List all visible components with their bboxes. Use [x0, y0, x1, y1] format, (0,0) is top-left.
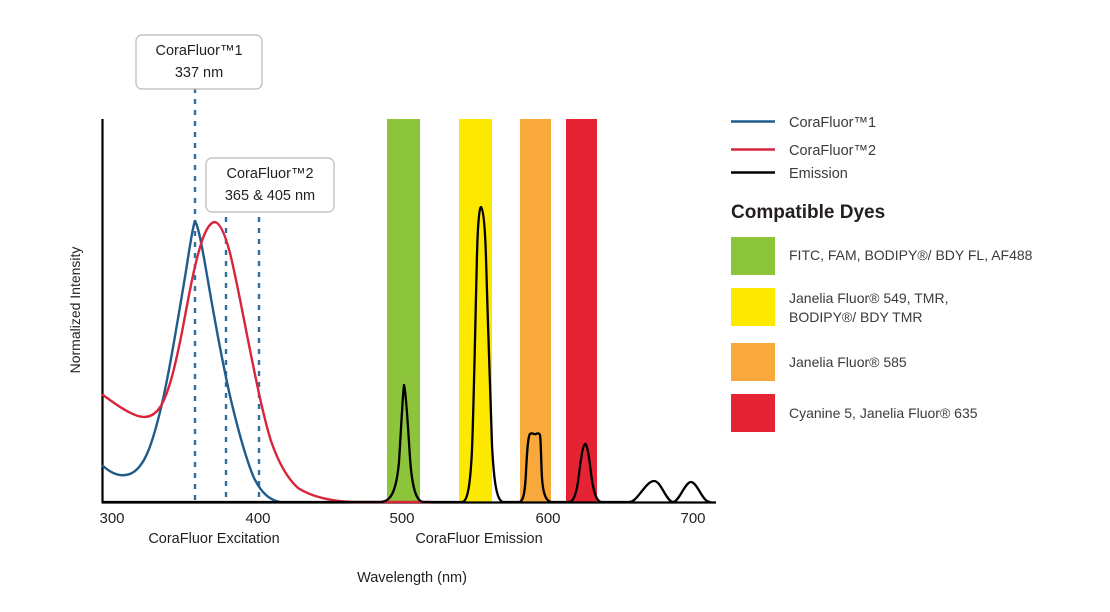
spectra-chart: 300 400 500 600 700 CoraFluor Excitation…: [0, 0, 1110, 612]
figure-root: 300 400 500 600 700 CoraFluor Excitation…: [0, 0, 1110, 612]
legend-dye-label-yellow-1: Janelia Fluor® 549, TMR,: [789, 290, 948, 306]
x-tick-600: 600: [535, 510, 560, 527]
dye-band-orange: [520, 119, 551, 502]
compatible-dyes-heading: Compatible Dyes: [731, 202, 885, 223]
curve-corafluor-2: [103, 222, 430, 502]
legend-label-corafluor-1: CoraFluor™1: [789, 115, 876, 131]
x-tick-500: 500: [389, 510, 414, 527]
region-label-emission: CoraFluor Emission: [415, 531, 542, 547]
legend-dye-swatch-orange: [731, 343, 775, 381]
excitation-marker-lines: [195, 88, 259, 502]
legend-dye-label-yellow-2: BODIPY®/ BDY TMR: [789, 309, 923, 325]
x-tick-700: 700: [680, 510, 705, 527]
legend-dye-list: FITC, FAM, BODIPY®/ BDY FL, AF488 Janeli…: [731, 237, 1033, 432]
legend-dye-swatch-red: [731, 394, 775, 432]
legend-dye-label-orange: Janelia Fluor® 585: [789, 354, 907, 370]
x-axis-ticks: 300 400 500 600 700: [99, 510, 705, 527]
legend-dye-item-orange: Janelia Fluor® 585: [731, 343, 907, 381]
callout-1-line1: CoraFluor™1: [155, 43, 242, 59]
legend-label-emission: Emission: [789, 166, 848, 182]
legend-dye-item-yellow: Janelia Fluor® 549, TMR, BODIPY®/ BDY TM…: [731, 288, 948, 326]
x-tick-300: 300: [99, 510, 124, 527]
legend-dye-item-red: Cyanine 5, Janelia Fluor® 635: [731, 394, 978, 432]
legend-dye-swatch-yellow: [731, 288, 775, 326]
legend-dye-label-green: FITC, FAM, BODIPY®/ BDY FL, AF488: [789, 247, 1033, 263]
y-axis-title: Normalized Intensity: [67, 247, 83, 374]
callout-2-line2: 365 & 405 nm: [225, 188, 315, 204]
legend-dye-label-red: Cyanine 5, Janelia Fluor® 635: [789, 405, 978, 421]
callout-corafluor-1: CoraFluor™1 337 nm: [136, 35, 262, 89]
x-tick-400: 400: [245, 510, 270, 527]
legend-dye-item-green: FITC, FAM, BODIPY®/ BDY FL, AF488: [731, 237, 1033, 275]
callout-corafluor-2: CoraFluor™2 365 & 405 nm: [206, 158, 334, 212]
region-label-excitation: CoraFluor Excitation: [148, 531, 279, 547]
legend-line-series: CoraFluor™1 CoraFluor™2 Emission: [731, 115, 876, 182]
callout-1-line2: 337 nm: [175, 65, 223, 81]
legend-label-corafluor-2: CoraFluor™2: [789, 143, 876, 159]
dye-band-red: [566, 119, 597, 502]
callout-2-line1: CoraFluor™2: [226, 166, 313, 182]
dye-band-green: [387, 119, 420, 502]
x-axis-title: Wavelength (nm): [357, 570, 467, 586]
legend-dye-swatch-green: [731, 237, 775, 275]
